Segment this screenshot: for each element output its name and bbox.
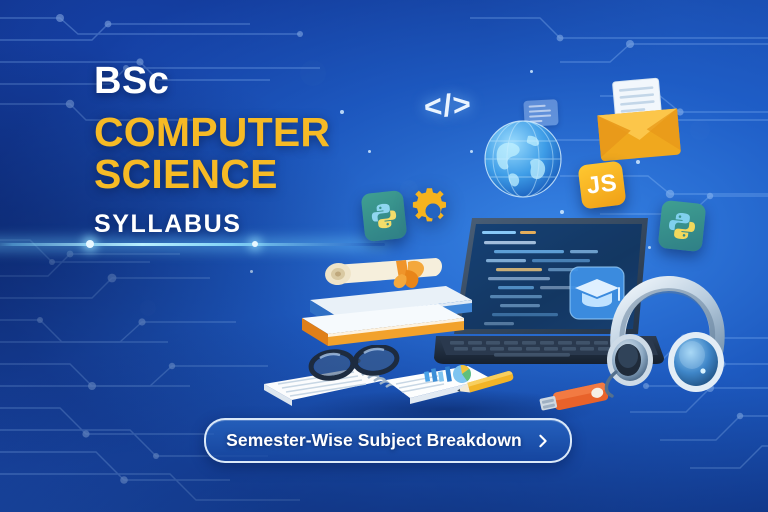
javascript-badge-icon: JS [577,160,626,209]
eyebrow-text: BSc [94,62,424,100]
banner-stage: BSc COMPUTER SCIENCE SYLLABUS </> [0,0,768,512]
title-line-1: COMPUTER [94,109,330,155]
javascript-badge-label: JS [585,169,619,200]
globe-icon [480,116,566,207]
usb-drive-illustration [534,382,612,421]
eyeglasses-illustration [306,345,404,388]
glow-divider [0,243,385,246]
glow-divider-node-right [252,241,258,247]
pencil-illustration [452,366,518,405]
page-title: COMPUTER SCIENCE [94,112,424,196]
envelope-mail-icon [588,74,687,169]
headphones-illustration [604,276,728,405]
code-tag-icon: </> [423,86,473,125]
python-badge-left-icon [361,190,408,242]
cta-label: Semester-Wise Subject Breakdown [226,430,522,451]
books-stack-illustration [296,256,486,353]
chevron-right-icon [536,434,550,448]
glow-divider-node-left [86,240,94,248]
title-line-2: SCIENCE [94,154,424,196]
cta-button[interactable]: Semester-Wise Subject Breakdown [204,418,572,463]
